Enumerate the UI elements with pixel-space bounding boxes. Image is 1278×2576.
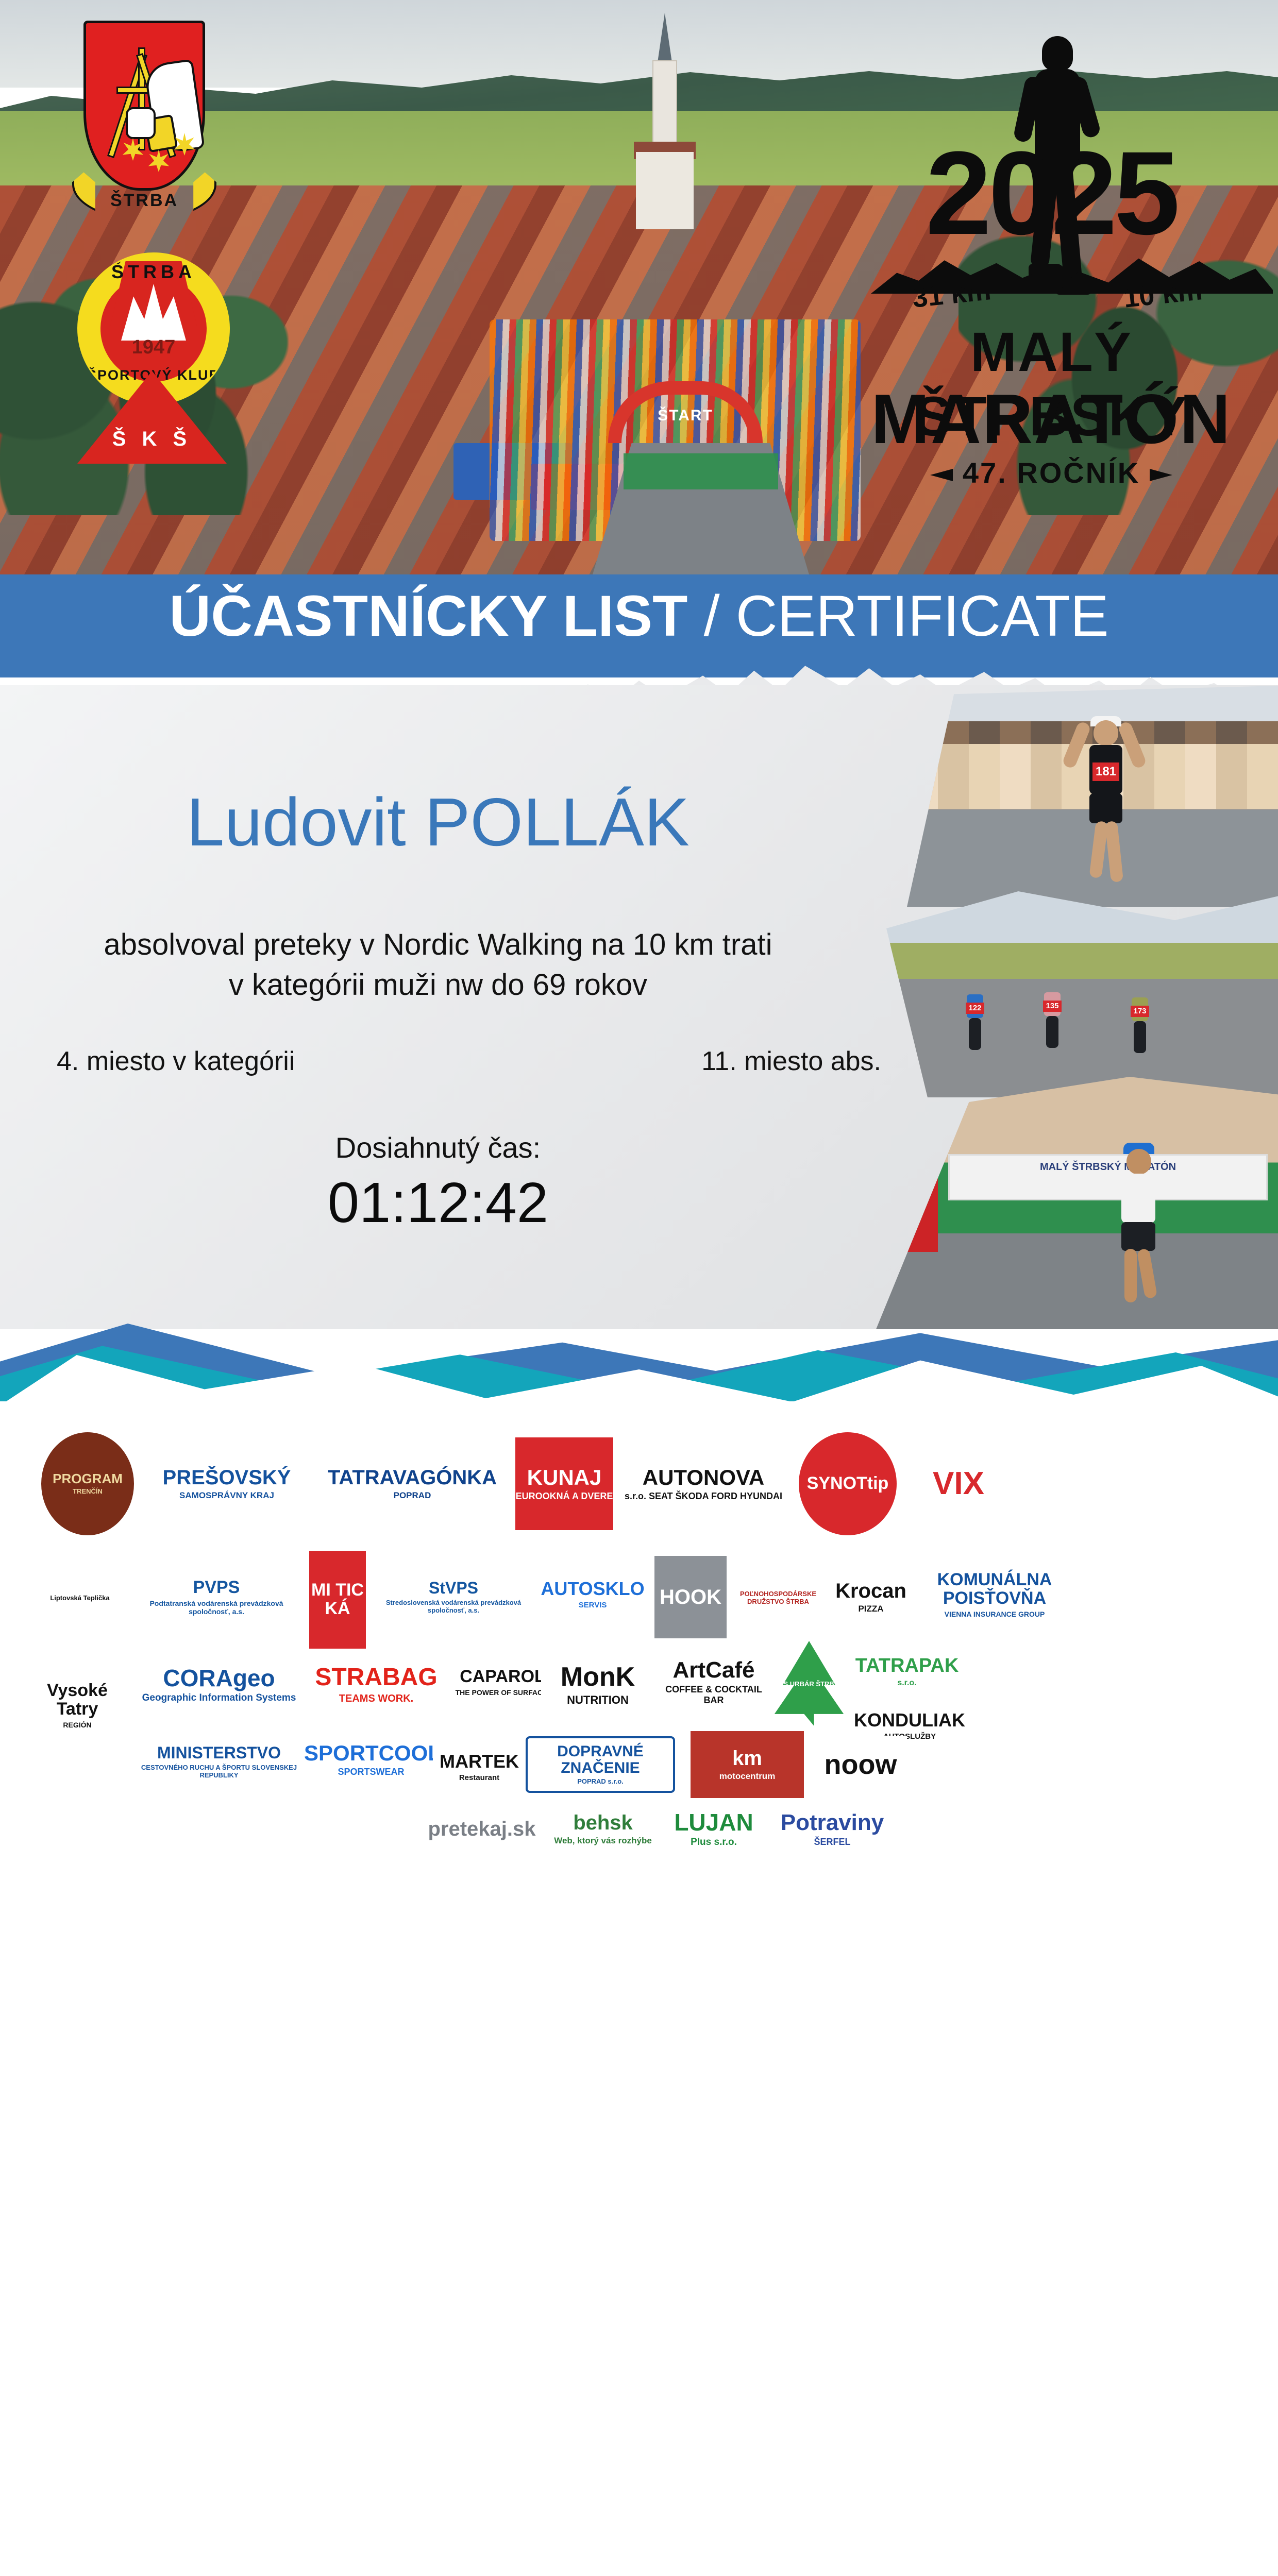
sponsor-tagline: Restaurant: [433, 1773, 526, 1782]
sponsor-logo: TATRAVAGÓNKAPOPRAD: [320, 1443, 505, 1525]
sponsor-tagline: Geographic Information Systems: [134, 1692, 304, 1704]
sponsor-logo: POĽNOHOSPODÁRSKE DRUŽSTVO ŠTRBA: [732, 1551, 825, 1643]
sponsor-logo: StVPSStredoslovenská vodárenská prevádzk…: [371, 1556, 536, 1638]
sponsor-logo-text: CAPAROLTHE POWER OF SURFACE.: [448, 1668, 557, 1697]
sponsor-name: DOPRAVNÉ ZNAČENIE: [528, 1743, 673, 1776]
sponsor-logo: PotravinyŠERFEL: [768, 1798, 897, 1860]
sponsor-name: Potraviny: [768, 1811, 897, 1835]
sponsor-logo-text: behskWeb, ktorý vás rozhýbe: [546, 1812, 660, 1846]
sponsor-logo: PVPSPodtatranská vodárenská prevádzková …: [129, 1556, 304, 1638]
description-line2: v kategórii muži nw do 69 rokov: [0, 965, 876, 1005]
sponsor-tagline: Stredoslovenská vodárenská prevádzková s…: [371, 1599, 536, 1615]
sponsor-logo: ArtCaféCOFFEE & COCKTAIL BAR: [660, 1643, 768, 1721]
sponsor-name: ArtCafé: [660, 1658, 768, 1682]
sponsor-name: CORAgeo: [134, 1666, 304, 1690]
sponsor-name: PROGRAM: [41, 1472, 134, 1486]
sponsor-logo-text: MI TIC KÁ: [309, 1581, 366, 1618]
sponsor-logo-text: SPORTCOOLSPORTSWEAR: [304, 1742, 438, 1777]
sponsor-name: noow: [814, 1750, 907, 1780]
runner-a: 122: [964, 994, 986, 1072]
sponsor-logo: PS URBÁR ŠTRBA: [768, 1641, 850, 1726]
race-title-block: 2025 31 km 10 km MALÝ ŠTRBSKÝ MARATÓN 47…: [835, 26, 1268, 489]
sponsor-logo-text: SYNOTtip: [799, 1475, 897, 1493]
sponsor-logo: STRABAGTEAMS WORK.: [309, 1649, 443, 1721]
sponsor-name: Vysoké Tatry: [31, 1682, 124, 1718]
sponsor-name: Krocan: [825, 1580, 917, 1602]
sponsor-name: MINISTERSTVO: [129, 1744, 309, 1762]
sponsor-logo-text: KrocanPIZZA: [825, 1580, 917, 1614]
sponsor-tagline: TRENČÍN: [41, 1488, 134, 1496]
sponsor-tagline: TEAMS WORK.: [309, 1693, 443, 1705]
arrow-left-icon: [894, 469, 953, 481]
sponsor-name: SPORTCOOL: [304, 1742, 438, 1765]
sponsor-tagline: VIENNA INSURANCE GROUP: [917, 1610, 1072, 1618]
photo-finisher: 181: [907, 685, 1278, 907]
sponsor-tagline: SPORTSWEAR: [304, 1767, 438, 1777]
certificate-description: absolvoval preteky v Nordic Walking na 1…: [0, 925, 876, 1005]
sponsor-name: AUTOSKLO: [536, 1579, 649, 1599]
time-label: Dosiahnutý čas:: [0, 1131, 876, 1164]
race-edition-row: 47. ROČNÍK: [835, 456, 1268, 489]
sponsor-logo: MI TIC KÁ: [309, 1551, 366, 1649]
runner-b: 135: [1041, 992, 1064, 1070]
sponsor-logo-text: PREŠOVSKÝSAMOSPRÁVNY KRAJ: [144, 1467, 309, 1501]
sponsor-tagline: CESTOVNÉHO RUCHU A ŠPORTU SLOVENSKEJ REP…: [129, 1764, 309, 1780]
sponsor-tagline: Podtatranská vodárenská prevádzková spol…: [129, 1599, 304, 1616]
sponsor-name: STRABAG: [309, 1665, 443, 1690]
sponsor-logo: pretekaj.sk: [423, 1803, 541, 1855]
sponsor-logo: MARTEKRestaurant: [433, 1731, 526, 1803]
sponsor-logo: KrocanPIZZA: [825, 1551, 917, 1643]
sponsor-logo-text: TATRAPAKs.r.o.: [850, 1656, 964, 1688]
photo-runners-group: 122 135 173: [886, 891, 1278, 1097]
sponsor-logo-text: noow: [814, 1750, 907, 1780]
sponsor-logo: MonKNUTRITION: [541, 1649, 654, 1721]
sponsor-tagline: COFFEE & COCKTAIL BAR: [660, 1684, 768, 1705]
sponsor-logo-text: MARTEKRestaurant: [433, 1752, 526, 1782]
sponsor-logo-text: kmmotocentrum: [691, 1748, 804, 1782]
mountain-divider: [0, 1288, 1278, 1406]
bib-runner-b: 135: [1043, 1001, 1062, 1012]
sponsor-logo-text: AUTONOVAs.r.o. SEAT ŠKODA FORD HYUNDAI: [618, 1466, 788, 1502]
sponsor-logo: CORAgeoGeographic Information Systems: [134, 1649, 304, 1721]
sponsor-logo-text: StVPSStredoslovenská vodárenská prevádzk…: [371, 1580, 536, 1614]
sponsor-logo-text: DOPRAVNÉ ZNAČENIEPOPRAD s.r.o.: [528, 1743, 673, 1786]
bib-finisher: 181: [1092, 762, 1119, 781]
sponsor-name: MI TIC KÁ: [309, 1581, 366, 1618]
bib-runner-a: 122: [966, 1003, 984, 1014]
sponsor-tagline: SERVIS: [536, 1601, 649, 1609]
arrow-right-icon: [1150, 469, 1208, 481]
sponsor-logo-text: AUTOSKLOSERVIS: [536, 1579, 649, 1609]
sponsor-name: TATRAVAGÓNKA: [320, 1467, 505, 1488]
sponsor-logo: noow: [814, 1736, 907, 1793]
sponsor-logo: Vysoké TatryREGIÓN: [31, 1654, 124, 1757]
sponsor-logo-text: KOMUNÁLNA POISŤOVŇAVIENNA INSURANCE GROU…: [917, 1571, 1072, 1618]
sponsor-tagline: POĽNOHOSPODÁRSKE DRUŽSTVO ŠTRBA: [732, 1590, 825, 1606]
sponsor-tagline: Liptovská Teplička: [41, 1595, 119, 1602]
sponsor-logo-text: MonKNUTRITION: [541, 1663, 654, 1706]
banner-title-rest: / CERTIFICATE: [687, 584, 1108, 648]
sponsor-logo-text: ArtCaféCOFFEE & COCKTAIL BAR: [660, 1658, 768, 1706]
race-title-line2: MARATÓN: [835, 379, 1268, 459]
sponsor-logo: behskWeb, ktorý vás rozhýbe: [546, 1803, 660, 1855]
sponsor-name: pretekaj.sk: [423, 1818, 541, 1840]
finisher-figure: 181: [1067, 706, 1144, 891]
sponsor-tagline: ŠERFEL: [768, 1837, 897, 1848]
sponsor-logo-text: PROGRAMTRENČÍN: [41, 1472, 134, 1496]
sponsor-name: KONDULIAK: [850, 1710, 969, 1730]
sponsor-tagline: PIZZA: [825, 1604, 917, 1614]
sponsor-name: PVPS: [129, 1579, 304, 1597]
church-icon: [634, 13, 696, 229]
sponsor-logo: KUNAJEUROOKNÁ A DVERE: [515, 1437, 613, 1530]
sponsor-tagline: motocentrum: [691, 1771, 804, 1782]
runner-silhouette-icon: [1015, 36, 1098, 304]
time-value: 01:12:42: [0, 1175, 876, 1231]
sponsor-logo: AUTONOVAs.r.o. SEAT ŠKODA FORD HYUNDAI: [618, 1437, 788, 1530]
sponsor-tagline: PS URBÁR ŠTRBA: [768, 1681, 850, 1688]
sponsor-name: HOOK: [654, 1586, 727, 1608]
sponsor-name: VIX: [907, 1467, 1010, 1500]
sponsor-logo: TATRAPAKs.r.o.: [850, 1643, 964, 1700]
sponsor-name: LUJAN: [665, 1810, 763, 1835]
place-absolute: 11. miesto abs.: [701, 1046, 881, 1077]
sponsor-logo-text: Vysoké TatryREGIÓN: [31, 1682, 124, 1728]
race-edition: 47. ROČNÍK: [963, 456, 1140, 489]
sponsor-logo: Liptovská Teplička: [41, 1546, 119, 1649]
sponsor-logo-text: TATRAVAGÓNKAPOPRAD: [320, 1467, 505, 1501]
sponsor-logo: HOOK: [654, 1556, 727, 1638]
sponsor-logo-text: MINISTERSTVOCESTOVNÉHO RUCHU A ŠPORTU SL…: [129, 1744, 309, 1779]
bib-runner-c: 173: [1131, 1006, 1149, 1017]
sponsor-logo-text: KUNAJEUROOKNÁ A DVERE: [515, 1466, 613, 1502]
sponsor-logo: SPORTCOOLSPORTSWEAR: [304, 1726, 438, 1793]
sponsor-logo-text: VIX: [907, 1467, 1010, 1500]
sponsor-tagline: THE POWER OF SURFACE.: [448, 1688, 557, 1697]
sponsor-logo: VIX: [907, 1432, 1010, 1535]
sponsor-tagline: s.r.o.: [850, 1679, 964, 1688]
sponsor-logo: AUTOSKLOSERVIS: [536, 1561, 649, 1628]
sponsor-name: AUTONOVA: [618, 1466, 788, 1489]
sponsor-name: behsk: [546, 1812, 660, 1834]
sponsor-name: MonK: [541, 1663, 654, 1691]
sponsor-logo-text: POĽNOHOSPODÁRSKE DRUŽSTVO ŠTRBA: [732, 1588, 825, 1606]
sponsor-name: KUNAJ: [515, 1466, 613, 1489]
sponsor-logo-text: LUJANPlus s.r.o.: [665, 1810, 763, 1848]
sponsor-tagline: REGIÓN: [31, 1721, 124, 1729]
placement-row: 4. miesto v kategórii 11. miesto abs.: [57, 1046, 881, 1077]
sponsor-logo-text: PotravinyŠERFEL: [768, 1811, 897, 1848]
finish-runner-figure: [1098, 1139, 1180, 1309]
sponsor-tagline: s.r.o. SEAT ŠKODA FORD HYUNDAI: [618, 1491, 788, 1502]
sponsor-logo: LUJANPlus s.r.o.: [665, 1798, 763, 1860]
sponsor-logo-text: PVPSPodtatranská vodárenská prevádzková …: [129, 1579, 304, 1616]
sponsor-name: SYNOTtip: [799, 1475, 897, 1493]
sponsor-logo: CAPAROLTHE POWER OF SURFACE.: [448, 1643, 557, 1721]
sponsor-name: km: [691, 1748, 804, 1769]
sponsor-tagline: POPRAD s.r.o.: [528, 1778, 673, 1786]
sponsor-logo-text: pretekaj.sk: [423, 1818, 541, 1840]
sponsor-logo: MINISTERSTVOCESTOVNÉHO RUCHU A ŠPORTU SL…: [129, 1721, 309, 1803]
coat-of-arms-label: ŠTRBA: [72, 191, 216, 211]
sponsor-name: PREŠOVSKÝ: [144, 1467, 309, 1488]
participant-name: Ludovit POLLÁK: [0, 788, 876, 856]
sponsor-tagline: NUTRITION: [541, 1693, 654, 1706]
sponsor-name: KOMUNÁLNA POISŤOVŇA: [917, 1571, 1072, 1607]
sponsor-logo-text: STRABAGTEAMS WORK.: [309, 1665, 443, 1704]
sponsor-name: TATRAPAK: [850, 1656, 964, 1676]
club-logo-year: 1947: [79, 336, 228, 359]
sponsor-tagline: SAMOSPRÁVNY KRAJ: [144, 1490, 309, 1501]
sponsor-name: CAPAROL: [448, 1668, 557, 1686]
strba-coat-of-arms: ŠTRBA: [72, 21, 216, 227]
certificate-banner: ÚČASTNÍCKY LIST / CERTIFICATE: [0, 574, 1278, 677]
sponsor-tagline: POPRAD: [320, 1490, 505, 1501]
sponsor-logo: kmmotocentrum: [691, 1731, 804, 1798]
sponsor-logo: DOPRAVNÉ ZNAČENIEPOPRAD s.r.o.: [526, 1736, 675, 1793]
sponsor-logo: PROGRAMTRENČÍN: [41, 1432, 134, 1535]
club-logo-top: ŠTRBA: [79, 261, 228, 283]
runner-c: 173: [1129, 997, 1151, 1075]
sponsor-tagline: Web, ktorý vás rozhýbe: [546, 1836, 660, 1846]
sponsor-logo: KOMUNÁLNA POISŤOVŇAVIENNA INSURANCE GROU…: [917, 1556, 1072, 1633]
banner-title-bold: ÚČASTNÍCKY LIST: [169, 584, 687, 648]
green-mat: [624, 453, 778, 489]
sponsor-logo: PREŠOVSKÝSAMOSPRÁVNY KRAJ: [144, 1440, 309, 1528]
sponsor-logo: SYNOTtip: [799, 1432, 897, 1535]
sponsor-logo-text: CORAgeoGeographic Information Systems: [134, 1666, 304, 1704]
sponsor-tagline: EUROOKNÁ A DVERE: [515, 1491, 613, 1502]
description-line1: absolvoval preteky v Nordic Walking na 1…: [0, 925, 876, 965]
sponsor-area: PROGRAMTRENČÍNPREŠOVSKÝSAMOSPRÁVNY KRAJT…: [0, 1401, 1278, 1807]
banner-title: ÚČASTNÍCKY LIST / CERTIFICATE: [0, 586, 1278, 647]
place-category: 4. miesto v kategórii: [57, 1046, 295, 1077]
photo-collage: 181 122 135 173 MALÝ ŠTRBSKÝ MARATÓN: [876, 685, 1278, 1329]
sponsor-logo-text: HOOK: [654, 1586, 727, 1608]
sponsor-name: StVPS: [371, 1580, 536, 1597]
sponsor-tagline: Plus s.r.o.: [665, 1837, 763, 1848]
sponsor-logo-text: PS URBÁR ŠTRBA: [768, 1679, 850, 1688]
sponsor-name: MARTEK: [433, 1752, 526, 1771]
sponsor-logo-text: Liptovská Teplička: [41, 1592, 119, 1602]
start-arch-label: ŠTART: [624, 407, 747, 425]
